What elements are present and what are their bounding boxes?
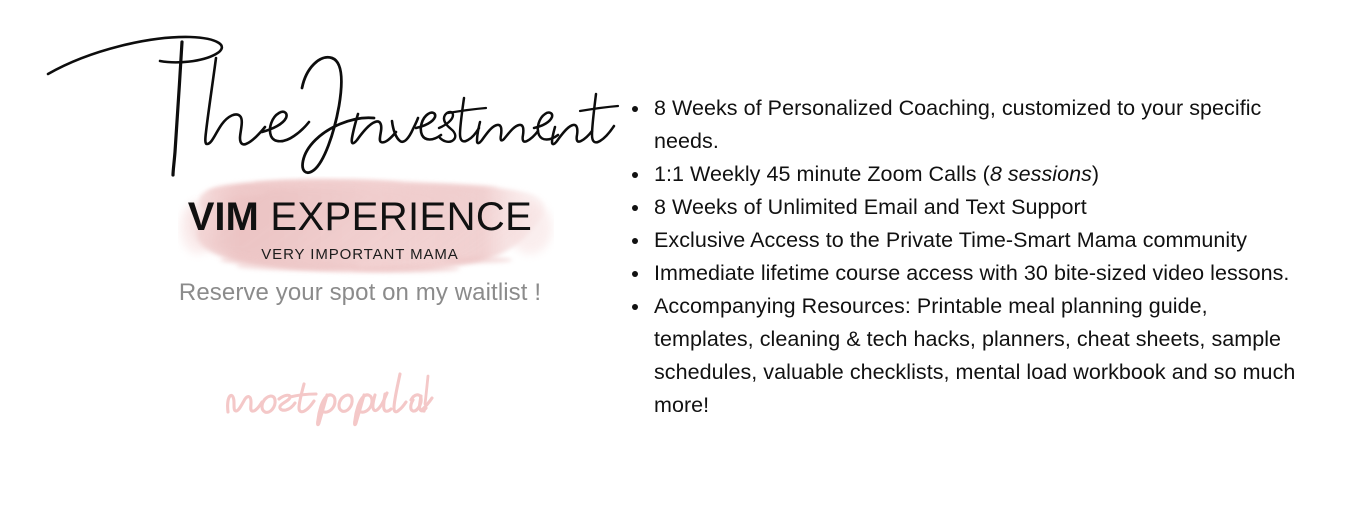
list-item-text: Exclusive Access to the Private Time-Sma… [654, 228, 1247, 252]
list-item-text: 8 Weeks of Unlimited Email and Text Supp… [654, 195, 1087, 219]
badge-brand-light: EXPERIENCE [259, 195, 532, 239]
list-item-text: 8 Weeks of Personalized Coaching, custom… [654, 96, 1261, 153]
page-title [40, 28, 460, 178]
benefits-list: 8 Weeks of Personalized Coaching, custom… [626, 92, 1296, 422]
list-item-text-tail: ) [1092, 162, 1099, 186]
waitlist-text: Reserve your spot on my waitlist ! [60, 278, 660, 308]
list-item: 1:1 Weekly 45 minute Zoom Calls (8 sessi… [626, 158, 1296, 191]
badge-subtitle: VERY IMPORTANT MAMA [60, 246, 660, 264]
list-item: Immediate lifetime course access with 30… [626, 257, 1296, 290]
left-column: VIM EXPERIENCE VERY IMPORTANT MAMA Reser… [0, 0, 600, 525]
vim-experience-badge: VIM EXPERIENCE VERY IMPORTANT MAMA [60, 194, 660, 264]
investment-slide: VIM EXPERIENCE VERY IMPORTANT MAMA Reser… [0, 0, 1366, 525]
list-item-text: Accompanying Resources: Printable meal p… [654, 294, 1295, 417]
list-item-text: Immediate lifetime course access with 30… [654, 261, 1289, 285]
badge-title: VIM EXPERIENCE [60, 194, 660, 240]
list-item-emphasis: 8 sessions [990, 162, 1092, 186]
most-popular-label [222, 368, 432, 428]
list-item: 8 Weeks of Personalized Coaching, custom… [626, 92, 1296, 158]
badge-brand-bold: VIM [188, 195, 259, 239]
list-item: Accompanying Resources: Printable meal p… [626, 290, 1296, 422]
list-item: Exclusive Access to the Private Time-Sma… [626, 224, 1296, 257]
list-item: 8 Weeks of Unlimited Email and Text Supp… [626, 191, 1296, 224]
list-item-text: 1:1 Weekly 45 minute Zoom Calls ( [654, 162, 990, 186]
right-column: 8 Weeks of Personalized Coaching, custom… [626, 92, 1296, 422]
